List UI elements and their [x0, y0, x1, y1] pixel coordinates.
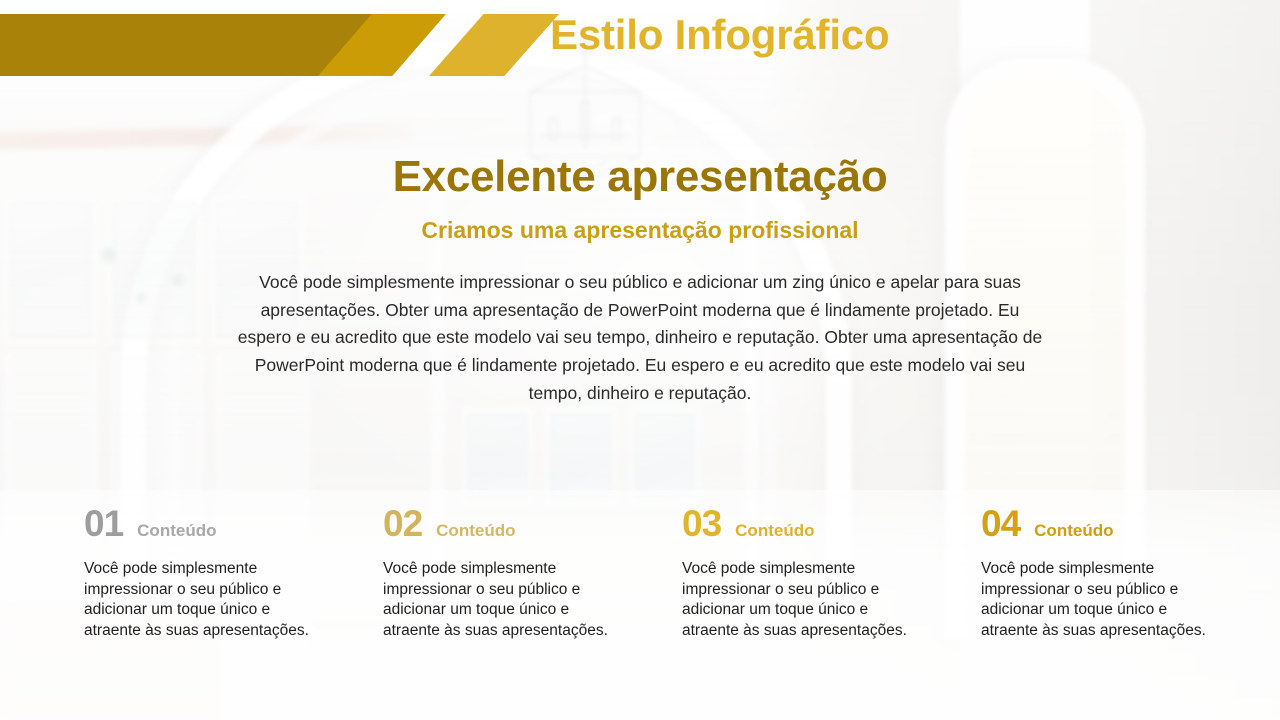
slide-canvas: Estilo Infográfico Excelente apresentaçã… [0, 0, 1280, 720]
column-label: Conteúdo [137, 521, 216, 541]
hero-title: Excelente apresentação [190, 152, 1090, 201]
column-label: Conteúdo [1034, 521, 1113, 541]
column-label: Conteúdo [735, 521, 814, 541]
column-number: 03 [682, 505, 721, 542]
hero-body-text: Você pode simplesmente impressionar o se… [235, 269, 1045, 408]
column-body-text: Você pode simplesmente impressionar o se… [383, 559, 623, 641]
column-body-text: Você pode simplesmente impressionar o se… [981, 559, 1221, 641]
hero-subtitle: Criamos uma apresentação profissional [190, 217, 1090, 245]
content-column-04[interactable]: 04 Conteúdo Você pode simplesmente impre… [981, 505, 1280, 641]
column-number: 04 [981, 505, 1020, 542]
content-columns: 01 Conteúdo Você pode simplesmente impre… [0, 505, 1280, 641]
hero-section: Excelente apresentação Criamos uma apres… [190, 152, 1090, 408]
column-header: 04 Conteúdo [981, 505, 1262, 549]
content-column-03[interactable]: 03 Conteúdo Você pode simplesmente impre… [682, 505, 981, 641]
column-label: Conteúdo [436, 521, 515, 541]
column-body-text: Você pode simplesmente impressionar o se… [682, 559, 922, 641]
column-number: 02 [383, 505, 422, 542]
content-column-02[interactable]: 02 Conteúdo Você pode simplesmente impre… [383, 505, 682, 641]
column-header: 02 Conteúdo [383, 505, 664, 549]
column-number: 01 [84, 505, 123, 542]
column-header: 03 Conteúdo [682, 505, 963, 549]
banner-title: Estilo Infográfico [550, 11, 889, 59]
column-body-text: Você pode simplesmente impressionar o se… [84, 559, 324, 641]
column-header: 01 Conteúdo [84, 505, 365, 549]
content-column-01[interactable]: 01 Conteúdo Você pode simplesmente impre… [84, 505, 383, 641]
